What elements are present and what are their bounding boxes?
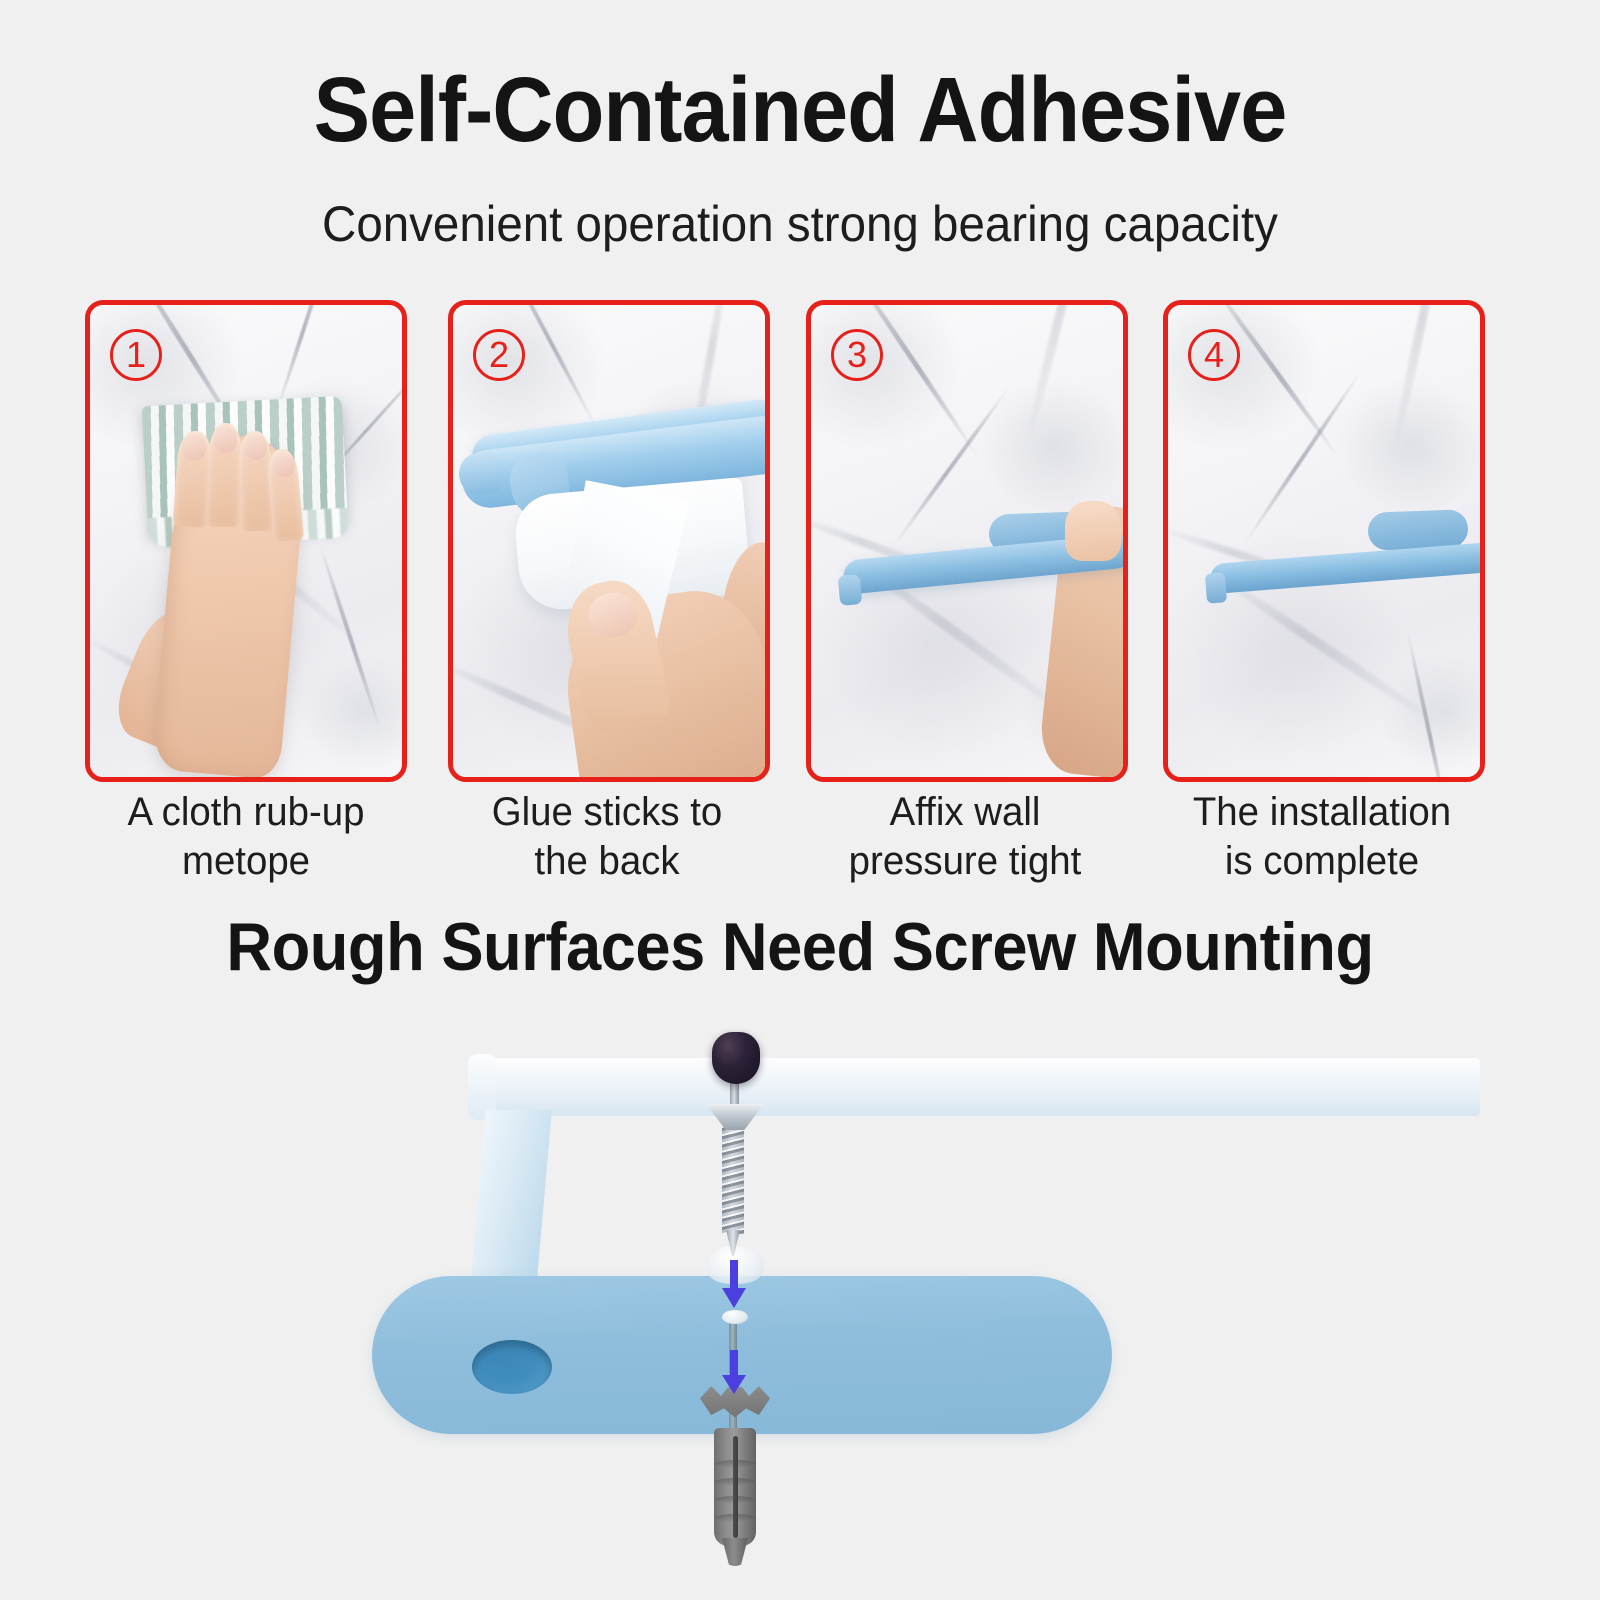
step-badge-4: 4 [1188, 329, 1240, 381]
step-caption-4: The installation is complete [1159, 788, 1485, 886]
caption-line: pressure tight [802, 837, 1128, 886]
caption-line: is complete [1159, 837, 1485, 886]
step-panel-1: 1 [85, 300, 407, 782]
screw-head [706, 1104, 764, 1130]
screw-mounting-diagram [0, 1020, 1600, 1600]
step-panels: 1 2 [0, 300, 1600, 784]
towel-bar [470, 1058, 1480, 1116]
wall-anchor-slot [733, 1436, 738, 1538]
page-subtitle: Convenient operation strong bearing capa… [40, 195, 1560, 253]
caption-line: the back [444, 837, 770, 886]
caption-line: Affix wall [802, 788, 1128, 837]
caption-line: The installation [1159, 788, 1485, 837]
caption-line: Glue sticks to [444, 788, 770, 837]
caption-line: A cloth rub-up [83, 788, 409, 837]
down-arrow-icon [722, 1350, 746, 1394]
towel-bar-end-cap [1205, 572, 1227, 603]
towel-bar-end-cap [838, 574, 863, 606]
screw-thread-shaft [722, 1126, 744, 1234]
wall-anchor-icon [700, 1386, 770, 1564]
screw-cap-icon [712, 1032, 760, 1084]
towel-bar-arm [470, 1110, 552, 1290]
step-caption-1: A cloth rub-up metope [83, 788, 409, 886]
screw-entry-hole [722, 1310, 748, 1324]
fingertip [1065, 501, 1121, 561]
step-badge-2: 2 [473, 329, 525, 381]
step-panel-3: 3 [806, 300, 1128, 782]
section-heading-screw-mounting: Rough Surfaces Need Screw Mounting [56, 908, 1544, 986]
step-panel-2: 2 [448, 300, 770, 782]
step-panel-4: 4 [1163, 300, 1485, 782]
step-caption-2: Glue sticks to the back [444, 788, 770, 886]
wall-anchor-tip [722, 1538, 748, 1566]
caption-line: metope [83, 837, 409, 886]
page-title: Self-Contained Adhesive [64, 62, 1536, 159]
step-badge-3: 3 [831, 329, 883, 381]
step-badge-1: 1 [110, 329, 162, 381]
step-caption-3: Affix wall pressure tight [802, 788, 1128, 886]
mount-plate-recess-hole [472, 1340, 552, 1394]
down-arrow-icon [722, 1260, 746, 1308]
